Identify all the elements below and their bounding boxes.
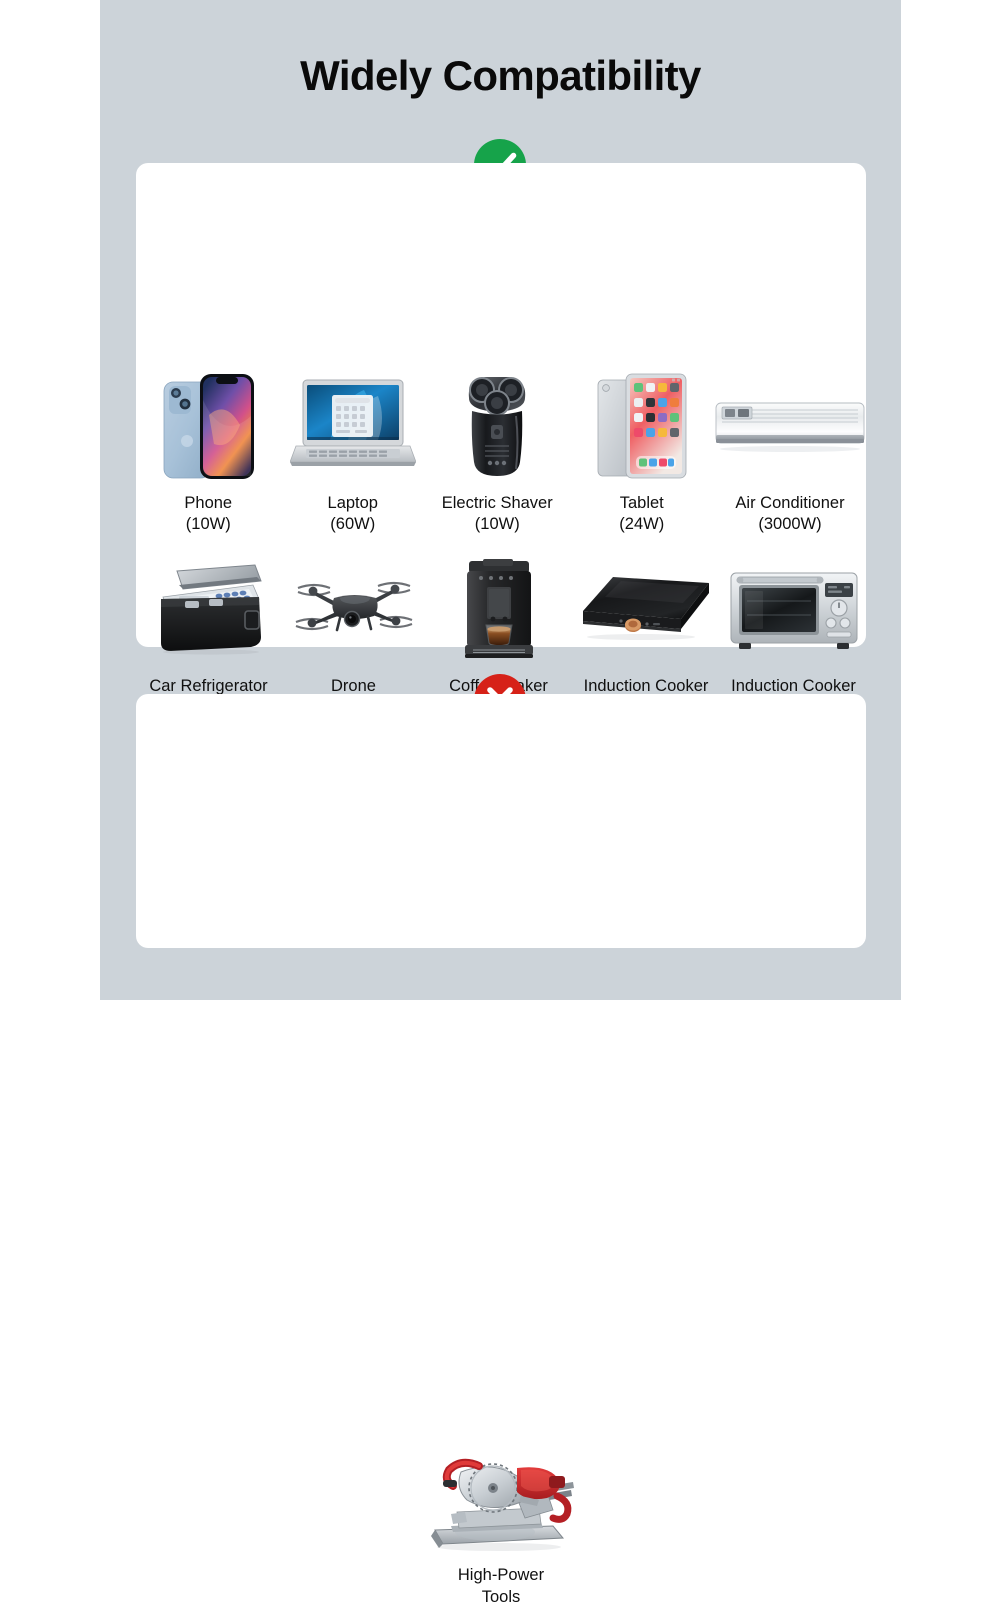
compatible-devices-card: Phone (10W) <box>136 163 866 647</box>
device-item-toaster-oven: Induction Cooker (2000W) <box>721 551 866 718</box>
air-conditioner-icon <box>714 368 866 483</box>
device-item-induction-cooker: Induction Cooker (2000W) <box>571 551 721 718</box>
page-title: Widely Compatibility <box>100 52 901 100</box>
drone-icon <box>281 551 426 666</box>
device-name: Laptop <box>328 493 378 514</box>
device-name: Air Conditioner <box>735 493 844 514</box>
device-name: Tablet <box>619 493 664 514</box>
compatibility-infographic: Widely Compatibility <box>0 0 1000 1000</box>
device-item-phone: Phone (10W) <box>136 368 281 535</box>
device-label: Laptop (60W) <box>328 493 378 535</box>
device-item-air-conditioner: Air Conditioner (3000W) <box>714 368 866 535</box>
device-power: Tools <box>458 1586 544 1608</box>
device-label: High-Power Tools <box>458 1564 544 1608</box>
device-item-laptop: Laptop (60W) <box>281 368 426 535</box>
device-item-electric-shaver: Electric Shaver (10W) <box>425 368 570 535</box>
device-item-drone: Drone (200W) <box>281 551 426 718</box>
electric-shaver-icon <box>425 368 570 483</box>
device-power: (10W) <box>442 514 553 535</box>
car-refrigerator-icon <box>136 551 281 666</box>
device-item-car-refrigerator: Car Refrigerator (80W) <box>136 551 281 718</box>
coffee-maker-icon <box>426 551 571 666</box>
device-power: (24W) <box>619 514 664 535</box>
device-name: Phone <box>184 493 232 514</box>
device-power: (10W) <box>184 514 232 535</box>
tablet-icon <box>570 368 715 483</box>
device-label: Phone (10W) <box>184 493 232 535</box>
device-label: Tablet (24W) <box>619 493 664 535</box>
device-power: (3000W) <box>735 514 844 535</box>
device-item-tablet: Tablet (24W) <box>570 368 715 535</box>
smartphone-icon <box>136 368 281 483</box>
induction-cooker-icon <box>571 551 721 666</box>
device-label: Air Conditioner (3000W) <box>735 493 844 535</box>
incompatible-devices-card: High-Power Tools <box>136 694 866 948</box>
device-name: High-Power <box>458 1564 544 1586</box>
device-label: Electric Shaver (10W) <box>442 493 553 535</box>
device-power: (60W) <box>328 514 378 535</box>
device-name: Electric Shaver <box>442 493 553 514</box>
device-item-high-power-tools: High-Power Tools <box>136 1446 866 1608</box>
toaster-oven-icon <box>721 551 866 666</box>
laptop-icon <box>281 368 426 483</box>
compatible-row-1: Phone (10W) <box>136 368 866 535</box>
miter-saw-icon <box>421 1446 581 1556</box>
